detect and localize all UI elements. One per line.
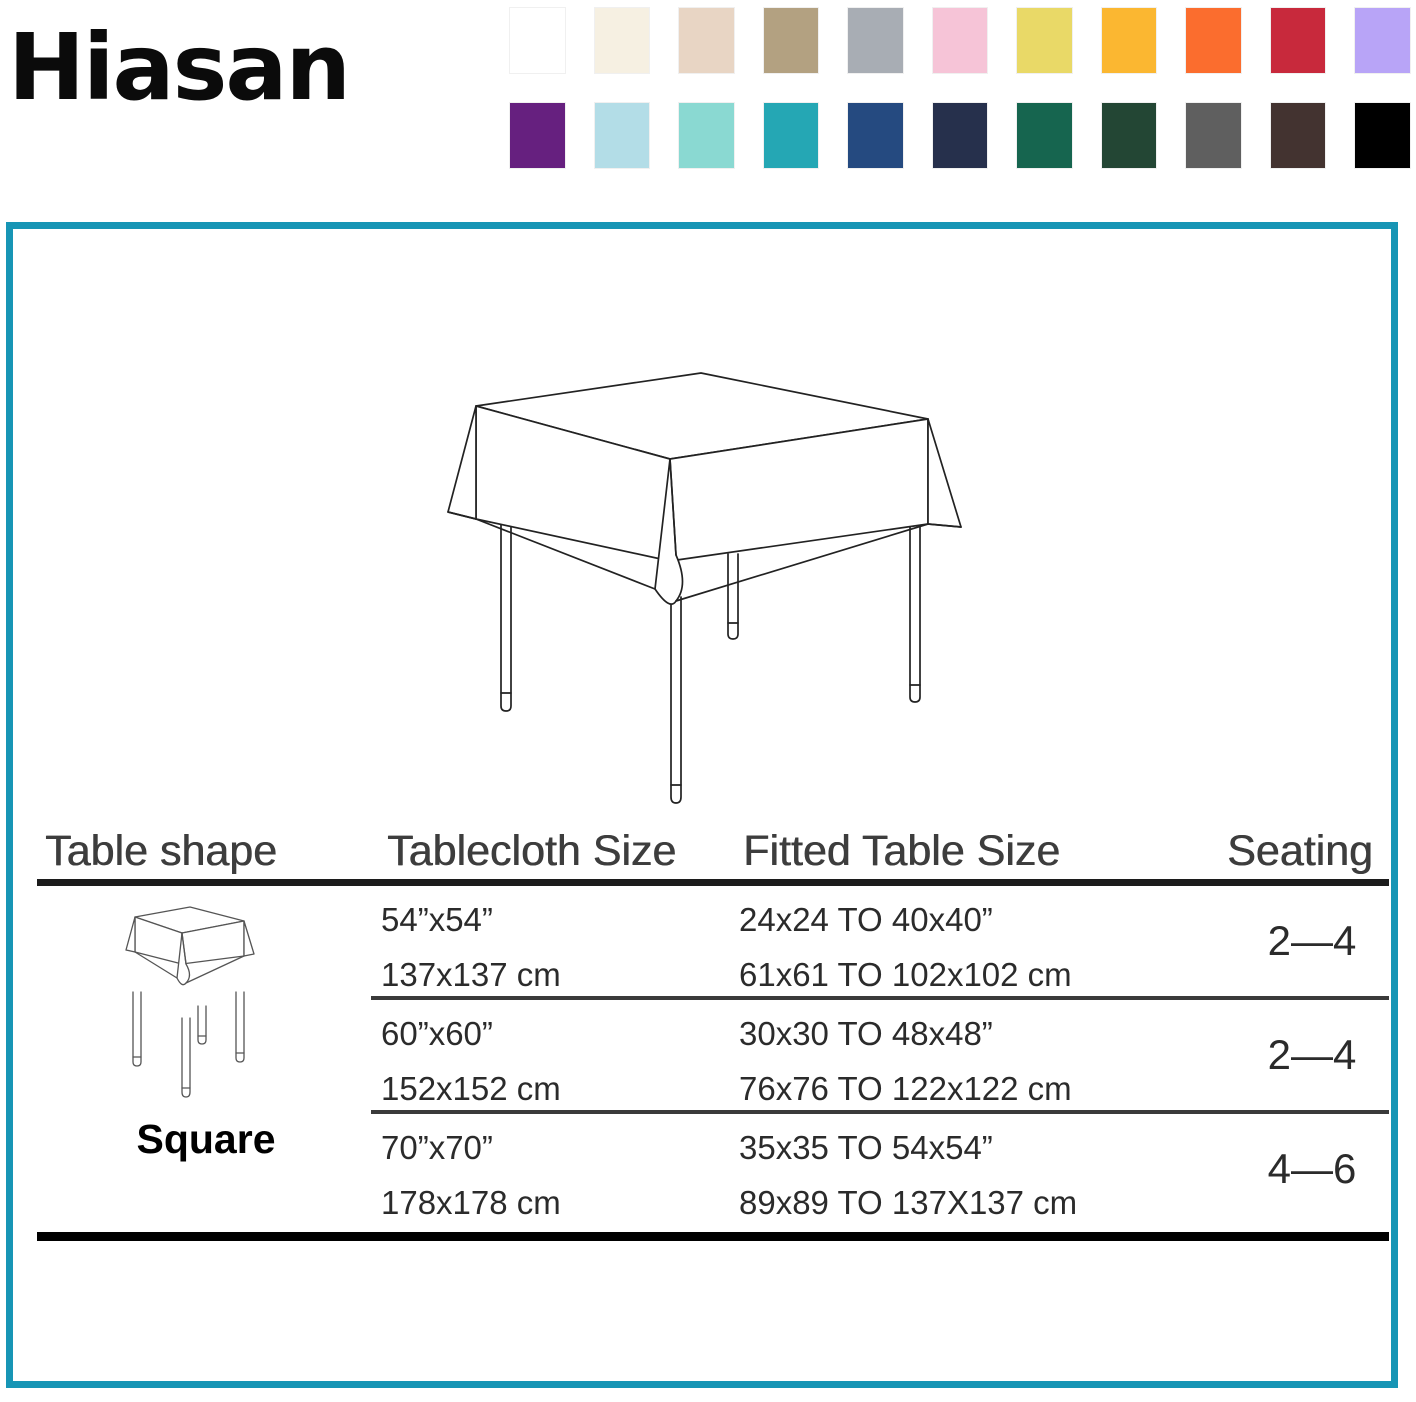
color-swatch-beige[interactable]: [679, 8, 734, 73]
tablecloth-size-inches: 54”x54”: [381, 903, 493, 936]
color-swatch-aqua[interactable]: [679, 103, 734, 168]
fitted-size-inches: 35x35 TO 54x54”: [739, 1131, 993, 1164]
tablecloth-size-inches: 70”x70”: [381, 1131, 493, 1164]
swatch-row-2: [510, 103, 1410, 168]
swatch-row-1: [510, 8, 1410, 73]
color-swatch-lavender[interactable]: [1355, 8, 1410, 73]
fitted-size-cm: 61x61 TO 102x102 cm: [739, 958, 1072, 991]
square-table-with-tablecloth-illustration: [423, 349, 983, 809]
column-header-table-shape: Table shape: [45, 830, 277, 873]
column-header-tablecloth-size: Tablecloth Size: [387, 830, 676, 873]
color-swatch-red[interactable]: [1271, 8, 1326, 73]
color-swatch-emerald[interactable]: [1017, 103, 1072, 168]
color-swatch-black[interactable]: [1355, 103, 1410, 168]
color-swatch-orange[interactable]: [1186, 8, 1241, 73]
fitted-size-inches: 24x24 TO 40x40”: [739, 903, 993, 936]
color-swatch-navy-blue[interactable]: [848, 103, 903, 168]
table-header-row: Table shape Tablecloth Size Fitted Table…: [37, 811, 1389, 873]
color-swatch-midnight-navy[interactable]: [933, 103, 988, 168]
color-swatch-grid: [510, 8, 1410, 168]
color-swatch-purple[interactable]: [510, 103, 565, 168]
table-body: Square 54”x54” 137x137 cm 24x24 TO 40x40…: [37, 886, 1389, 1232]
tablecloth-size-cm: 178x178 cm: [381, 1186, 561, 1219]
column-header-fitted-table-size: Fitted Table Size: [743, 830, 1060, 873]
color-swatch-white[interactable]: [510, 8, 565, 73]
color-swatch-dark-gray[interactable]: [1186, 103, 1241, 168]
color-swatch-light-gray[interactable]: [848, 8, 903, 73]
table-bottom-rule: [37, 1232, 1389, 1241]
tablecloth-size-table: Table shape Tablecloth Size Fitted Table…: [37, 811, 1389, 1241]
table-row: 54”x54” 137x137 cm 24x24 TO 40x40” 61x61…: [37, 886, 1389, 996]
color-swatch-yellow[interactable]: [1017, 8, 1072, 73]
tablecloth-size-cm: 137x137 cm: [381, 958, 561, 991]
color-swatch-hunter-green[interactable]: [1102, 103, 1157, 168]
table-row: 70”x70” 178x178 cm 35x35 TO 54x54” 89x89…: [37, 1114, 1389, 1232]
color-swatch-marigold[interactable]: [1102, 8, 1157, 73]
column-header-seating: Seating: [1227, 830, 1373, 873]
fitted-size-cm: 89x89 TO 137X137 cm: [739, 1186, 1077, 1219]
tablecloth-size-inches: 60”x60”: [381, 1017, 493, 1050]
color-swatch-powder-blue[interactable]: [595, 103, 650, 168]
color-swatch-coffee-brown[interactable]: [1271, 103, 1326, 168]
header-rule: [37, 879, 1389, 886]
seating-value: 2—4: [1217, 1034, 1407, 1076]
fitted-size-inches: 30x30 TO 48x48”: [739, 1017, 993, 1050]
color-swatch-teal[interactable]: [764, 103, 819, 168]
color-swatch-ivory[interactable]: [595, 8, 650, 73]
brand-logo: Hiasan: [8, 8, 478, 128]
color-swatch-khaki[interactable]: [764, 8, 819, 73]
info-panel: Table shape Tablecloth Size Fitted Table…: [6, 222, 1398, 1388]
table-row: 60”x60” 152x152 cm 30x30 TO 48x48” 76x76…: [37, 1000, 1389, 1110]
color-swatch-baby-pink[interactable]: [933, 8, 988, 73]
brand-wordmark: Hiasan: [8, 22, 349, 114]
seating-value: 4—6: [1217, 1148, 1407, 1190]
seating-value: 2—4: [1217, 920, 1407, 962]
fitted-size-cm: 76x76 TO 122x122 cm: [739, 1072, 1072, 1105]
tablecloth-size-cm: 152x152 cm: [381, 1072, 561, 1105]
